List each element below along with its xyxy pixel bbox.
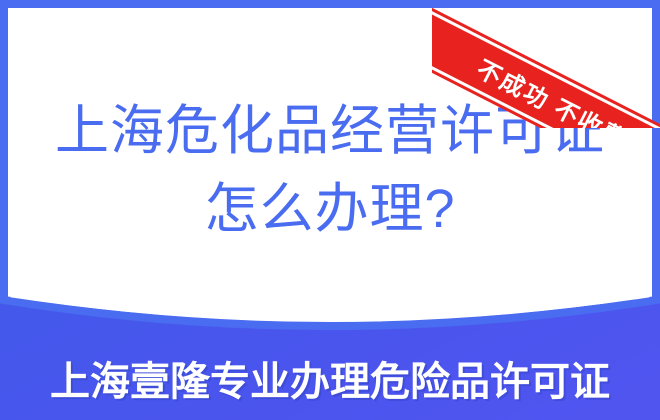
bottom-banner: 上海壹隆专业办理危险品许可证 <box>0 336 660 420</box>
headline-line-2: 怎么办理? <box>0 170 660 248</box>
ribbon-band: 不成功 不收费 <box>432 4 660 128</box>
promo-poster: 上海危化品经营许可证 怎么办理? 不成功 不收费 上海壹隆专业办理危险品许可证 <box>0 0 660 420</box>
bottom-banner-label: 上海壹隆专业办理危险品许可证 <box>50 349 610 407</box>
corner-ribbon: 不成功 不收费 <box>432 0 660 128</box>
ribbon-label: 不成功 不收费 <box>472 49 635 128</box>
